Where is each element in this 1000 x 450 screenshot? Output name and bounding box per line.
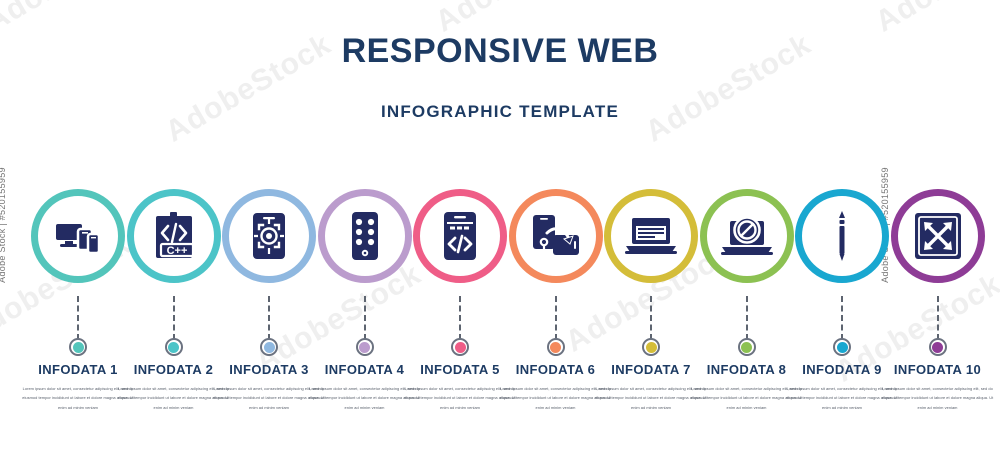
marker-dot bbox=[359, 342, 370, 353]
connector-line-9 bbox=[841, 296, 843, 340]
svg-text:C++: C++ bbox=[166, 245, 187, 257]
step-marker-2[interactable] bbox=[165, 338, 183, 356]
connector-line-3 bbox=[268, 296, 270, 340]
step-marker-3[interactable] bbox=[260, 338, 278, 356]
page-title: responsive web bbox=[0, 32, 1000, 71]
infographic-canvas: AdobeStock AdobeStock AdobeStock AdobeSt… bbox=[0, 0, 1000, 450]
marker-dot bbox=[550, 342, 561, 353]
remote-control-icon bbox=[315, 186, 415, 286]
mobile-focus-target-icon bbox=[219, 186, 319, 286]
marker-dot bbox=[455, 342, 466, 353]
step-circle-row: C++ bbox=[0, 186, 1000, 286]
step-circle-6[interactable] bbox=[506, 186, 606, 286]
laptop-blocked-icon bbox=[697, 186, 797, 286]
step-circle-1[interactable] bbox=[28, 186, 128, 286]
marker-dot bbox=[646, 342, 657, 353]
marker-dot bbox=[837, 342, 848, 353]
marker-dot bbox=[168, 342, 179, 353]
laptop-content-icon bbox=[601, 186, 701, 286]
connector-line-10 bbox=[937, 296, 939, 340]
step-marker-6[interactable] bbox=[547, 338, 565, 356]
step-label-10: Infodata 10 bbox=[878, 362, 998, 377]
step-description-10: Lorem ipsum dolor sit amet, consectetur … bbox=[882, 384, 994, 412]
connector-line-2 bbox=[173, 296, 175, 340]
step-marker-10[interactable] bbox=[929, 338, 947, 356]
step-circle-9[interactable] bbox=[792, 186, 892, 286]
marker-dot bbox=[932, 342, 943, 353]
step-marker-7[interactable] bbox=[642, 338, 660, 356]
cpp-code-file-icon: C++ bbox=[124, 186, 224, 286]
step-circle-2[interactable]: C++ bbox=[124, 186, 224, 286]
mobile-code-icon bbox=[410, 186, 510, 286]
step-marker-8[interactable] bbox=[738, 338, 756, 356]
screen-rotation-icon bbox=[506, 186, 606, 286]
marker-dot bbox=[264, 342, 275, 353]
step-circle-7[interactable] bbox=[601, 186, 701, 286]
step-marker-4[interactable] bbox=[356, 338, 374, 356]
connector-line-1 bbox=[77, 296, 79, 340]
step-circle-5[interactable] bbox=[410, 186, 510, 286]
responsive-devices-icon bbox=[28, 186, 128, 286]
pencil-icon bbox=[792, 186, 892, 286]
step-circle-8[interactable] bbox=[697, 186, 797, 286]
step-marker-5[interactable] bbox=[451, 338, 469, 356]
connector-line-5 bbox=[459, 296, 461, 340]
connector-line-7 bbox=[650, 296, 652, 340]
marker-dot bbox=[741, 342, 752, 353]
connector-line-8 bbox=[746, 296, 748, 340]
crossing-arrows-square-icon bbox=[888, 186, 988, 286]
step-marker-1[interactable] bbox=[69, 338, 87, 356]
page-subtitle: infographic template bbox=[0, 102, 1000, 122]
step-circle-3[interactable] bbox=[219, 186, 319, 286]
step-marker-9[interactable] bbox=[833, 338, 851, 356]
connector-line-6 bbox=[555, 296, 557, 340]
connector-line-4 bbox=[364, 296, 366, 340]
marker-dot bbox=[73, 342, 84, 353]
step-circle-4[interactable] bbox=[315, 186, 415, 286]
step-circle-10[interactable] bbox=[888, 186, 988, 286]
